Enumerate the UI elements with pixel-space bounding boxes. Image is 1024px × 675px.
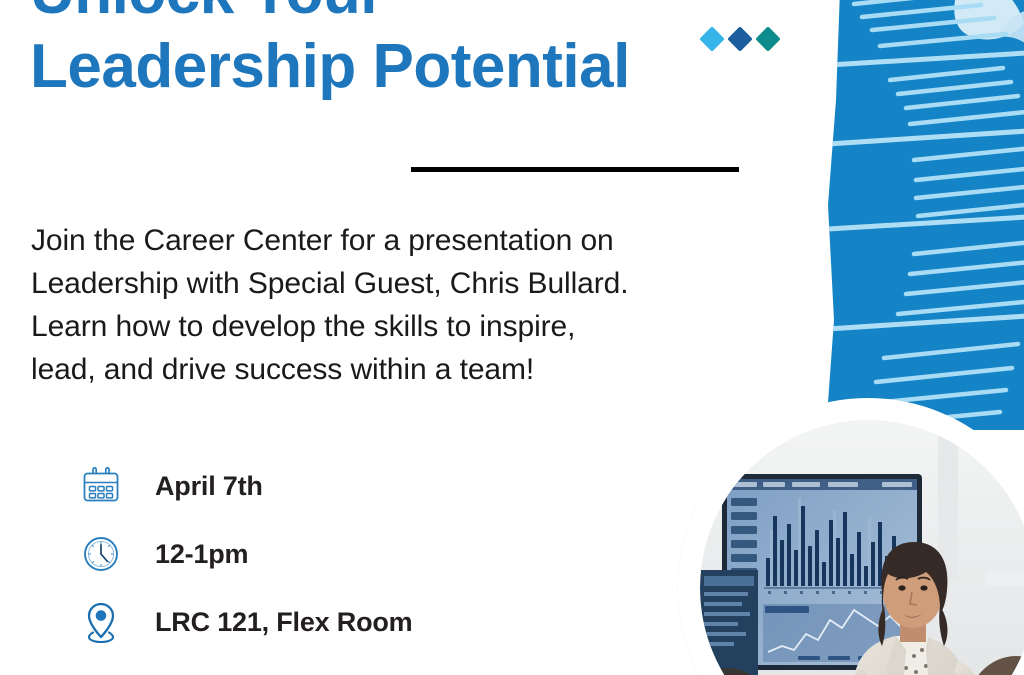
- flyer-headline: Unlock Your Leadership Potential: [30, 0, 630, 104]
- detail-row-location: LRC 121, Flex Room: [78, 588, 412, 656]
- diamond-icon-1: [699, 26, 724, 51]
- headline-line-2: Leadership Potential: [30, 30, 630, 104]
- description-line-1: Join the Career Center for a presentatio…: [31, 219, 731, 262]
- description-line-2: Leadership with Special Guest, Chris Bul…: [31, 262, 731, 305]
- detail-label-time: 12-1pm: [155, 539, 248, 570]
- diamond-icon-3: [755, 26, 780, 51]
- calendar-icon: [78, 460, 124, 512]
- divider-rule: [411, 167, 739, 172]
- diamond-accent-group: [703, 28, 778, 50]
- headline-line-1: Unlock Your: [30, 0, 384, 27]
- banner-graphic: [818, 0, 1024, 430]
- event-details-list: April 7th 12-1pm: [78, 452, 412, 656]
- detail-label-date: April 7th: [155, 471, 263, 502]
- decorative-blue-banner: [818, 0, 1024, 430]
- detail-row-time: 12-1pm: [78, 520, 412, 588]
- detail-row-date: April 7th: [78, 452, 412, 520]
- description-line-3: Learn how to develop the skills to inspi…: [31, 305, 731, 348]
- flyer-description: Join the Career Center for a presentatio…: [31, 219, 731, 391]
- detail-label-location: LRC 121, Flex Room: [155, 607, 412, 638]
- description-line-4: lead, and drive success within a team!: [31, 348, 731, 391]
- diamond-icon-2: [727, 26, 752, 51]
- clock-icon: [78, 528, 124, 580]
- location-pin-icon: [78, 596, 124, 648]
